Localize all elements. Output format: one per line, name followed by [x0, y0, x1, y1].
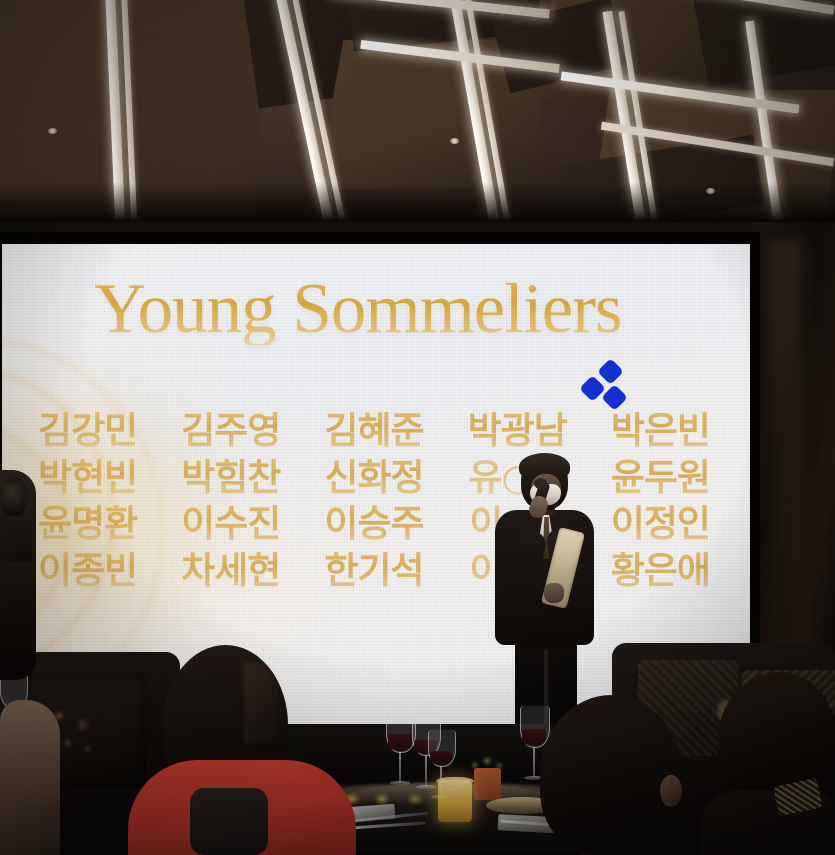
slide-title: Young Sommeliers	[2, 274, 714, 345]
audience-arm	[0, 700, 60, 855]
name-cell: 박광남	[446, 412, 589, 450]
votive-candle	[438, 780, 472, 822]
backpack-strap	[190, 788, 268, 855]
phone-body	[0, 520, 32, 562]
wine-liquid	[430, 751, 452, 765]
microphone-head	[534, 478, 547, 489]
audience-ear	[660, 775, 682, 807]
logo-diamond-icon	[601, 384, 628, 411]
glass-stem	[425, 755, 427, 786]
wine-liquid	[388, 734, 412, 751]
name-cell: 황은애	[589, 552, 732, 590]
name-cell: 김강민	[16, 412, 159, 450]
name-cell: 박현빈	[16, 459, 159, 497]
name-cell: 이수진	[159, 505, 302, 543]
ceiling-downlight	[48, 128, 57, 134]
wine-liquid	[522, 729, 546, 746]
glass-foot	[416, 785, 436, 789]
glass-stem	[399, 752, 401, 782]
ceiling-downlight	[450, 138, 459, 144]
three-blue-diamonds-logo	[583, 362, 637, 416]
wall-highlight	[770, 240, 804, 660]
name-cell: 김혜준	[302, 412, 445, 450]
name-cell: 박힘찬	[159, 459, 302, 497]
camera-lens-icon	[0, 477, 28, 517]
speaker-right-hand	[544, 583, 564, 603]
logo-diamond-icon	[597, 358, 624, 385]
speaker-at-microphone	[489, 455, 599, 730]
name-cell: 차세현	[159, 552, 302, 590]
coffered-ceiling	[0, 0, 835, 228]
wine-glass	[428, 730, 454, 782]
name-cell: 이정인	[589, 505, 732, 543]
name-cell: 한기석	[302, 552, 445, 590]
planter-pot	[474, 768, 501, 800]
name-cell: 윤명환	[16, 505, 159, 543]
name-cell: 윤두원	[589, 459, 732, 497]
ceiling-beam	[693, 0, 835, 87]
glass-stem	[533, 747, 535, 777]
glass-foot	[390, 781, 410, 785]
name-cell: 이승주	[302, 505, 445, 543]
name-cell: 신화정	[302, 459, 445, 497]
sommelier-names-grid: 김강민 김주영 김혜준 박광남 박은빈 박현빈 박힘찬 신화정 유○건 윤두원 …	[16, 412, 732, 590]
audience-seated-center-right	[540, 695, 683, 855]
photo-scene: Young Sommeliers 김강민 김주영 김혜준 박광남 박은빈 박현빈…	[0, 0, 835, 855]
wine-glass	[386, 712, 414, 768]
name-cell: 이종빈	[16, 552, 159, 590]
name-cell: 김주영	[159, 412, 302, 450]
name-cell: 박은빈	[589, 412, 732, 450]
